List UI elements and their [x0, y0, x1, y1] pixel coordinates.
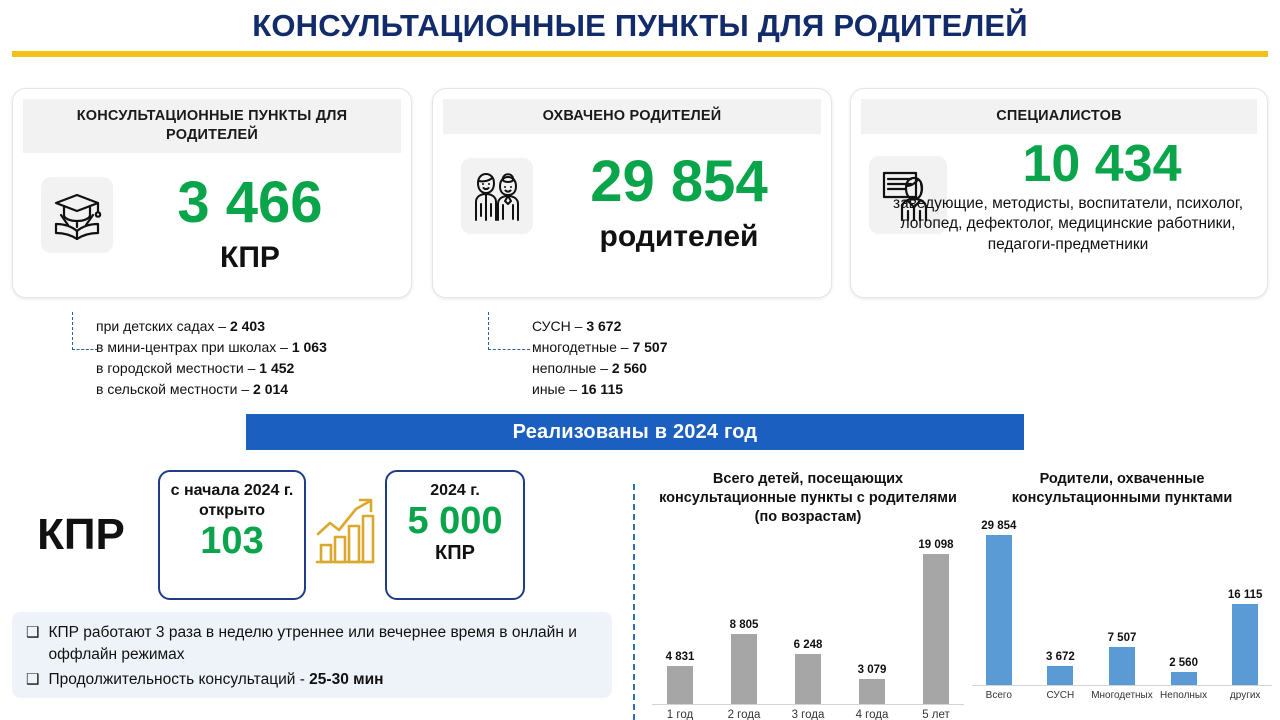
note-line: многодетные – 7 507 [532, 337, 668, 358]
chart-bar [986, 535, 1012, 685]
chart-x-label: 3 года [776, 709, 840, 720]
chart-bar-group: 4 831 [648, 533, 712, 704]
infographic-page: КОНСУЛЬТАЦИОННЫЕ ПУНКТЫ ДЛЯ РОДИТЕЛЕЙ КО… [0, 0, 1280, 720]
note-line: в сельской местности – 2 014 [96, 379, 327, 400]
kpr-box-target-2024: 2024 г. 5 000 КПР [385, 470, 525, 600]
chart-bar-value: 19 098 [918, 539, 953, 551]
card-value: 10 434 [947, 140, 1257, 189]
chart-x-label: 2 года [712, 709, 776, 720]
note-label: неполные – [532, 360, 612, 376]
card-value: 3 466 [125, 175, 375, 230]
notes-right: СУСН – 3 672многодетные – 7 507неполные … [532, 316, 668, 400]
chart-bar [731, 634, 757, 703]
chart-plot-area: 29 8543 6727 5072 56016 115 [968, 514, 1276, 686]
chart-bar [1171, 672, 1197, 685]
note-value: 1 063 [292, 339, 327, 355]
chart-bar-group: 16 115 [1214, 514, 1276, 685]
notes-left: при детских садах – 2 403в мини-центрах … [96, 316, 327, 400]
card-body: 29 854 родителей [433, 134, 831, 284]
note-value: 2 560 [612, 360, 647, 376]
chart-bar-group: 29 854 [968, 514, 1030, 685]
chart-baseline [972, 685, 1272, 686]
note-value: 3 672 [586, 318, 621, 334]
stat-card-parents-covered: ОХВАЧЕНО РОДИТЕЛЕЙ [432, 88, 832, 298]
parents-icon [461, 158, 533, 234]
note-line: в мини-центрах при школах – 1 063 [96, 337, 327, 358]
bullet-marker-icon: ❑ [26, 669, 39, 691]
chart-bar-group: 2 560 [1153, 514, 1215, 685]
chart-x-axis-labels: ВсегоСУСНМногодетныхНеполныхдругих [968, 690, 1276, 701]
bullet-item: ❑КПР работают 3 раза в неделю утреннее и… [26, 622, 598, 667]
note-line: при детских садах – 2 403 [96, 316, 327, 337]
graduation-cap-book-icon [41, 177, 113, 253]
bullet-text: Продолжительность консультаций - 25-30 м… [48, 669, 383, 691]
chart-bar-value: 16 115 [1228, 589, 1263, 601]
chart-bar [1047, 666, 1073, 684]
stat-card-specialists: СПЕЦИАЛИСТОВ 10 434 заведующие, методист… [850, 88, 1268, 298]
chart-bar-value: 6 248 [794, 639, 823, 651]
chart-plot-area: 4 8318 8056 2483 07919 098 [648, 533, 968, 705]
chart-bar-value: 4 831 [666, 651, 695, 663]
chart-bar-value: 8 805 [730, 619, 759, 631]
chart-x-label: 4 года [840, 709, 904, 720]
chart-bar-value: 3 672 [1046, 651, 1075, 663]
kpr-label: КПР [16, 510, 146, 560]
chart-bar-value: 3 079 [858, 664, 887, 676]
chart-bar-value: 29 854 [981, 520, 1016, 532]
chart-title: Всего детей, посещающих консультационные… [648, 470, 968, 527]
note-line: иные – 16 115 [532, 379, 668, 400]
note-label: многодетные – [532, 339, 632, 355]
chart-bar [1109, 647, 1135, 685]
chart-bar [795, 654, 821, 703]
chart-bar [859, 679, 885, 703]
chart-bar-value: 7 507 [1108, 632, 1137, 644]
bullets-panel: ❑КПР работают 3 раза в неделю утреннее и… [12, 612, 612, 698]
card-subtitle: родителей [545, 220, 813, 254]
chart-bar [923, 554, 949, 704]
kpr-box-value: 103 [160, 521, 304, 563]
note-label: иные – [532, 381, 581, 397]
chart-children-by-age: Всего детей, посещающих консультационные… [648, 470, 968, 720]
chart-x-label: 1 год [648, 709, 712, 720]
note-line: неполные – 2 560 [532, 358, 668, 379]
chart-title: Родители, охваченные консультационными п… [968, 470, 1276, 508]
chart-x-label: Неполных [1153, 690, 1215, 701]
vertical-dashed-divider [633, 484, 635, 720]
kpr-box-caption: с начала 2024 г. открыто [160, 472, 304, 521]
chart-bars: 4 8318 8056 2483 07919 098 [648, 533, 968, 704]
connector-line-left [72, 312, 98, 350]
note-label: в мини-центрах при школах – [96, 339, 292, 355]
chart-bar-group: 8 805 [712, 533, 776, 704]
card-body: 3 466 КПР [13, 153, 411, 298]
note-value: 16 115 [581, 381, 623, 397]
kpr-box-opened-2024: с начала 2024 г. открыто 103 [158, 470, 306, 600]
chart-bar [667, 666, 693, 704]
bullet-emphasis: 25-30 мин [309, 671, 383, 688]
kpr-box-value: 5 000 [387, 501, 523, 543]
bullet-text: КПР работают 3 раза в неделю утреннее ил… [48, 622, 598, 667]
chart-x-label: других [1214, 690, 1276, 701]
chart-bar-group: 19 098 [904, 533, 968, 704]
note-label: при детских садах – [96, 318, 230, 334]
section-banner-2024: Реализованы в 2024 год [246, 414, 1024, 450]
chart-parents-covered: Родители, охваченные консультационными п… [968, 470, 1276, 720]
card-subtitle: заведующие, методисты, воспитатели, псих… [877, 194, 1259, 256]
connector-line-right [488, 312, 530, 350]
chart-bar-group: 3 672 [1030, 514, 1092, 685]
note-label: в городской местности – [96, 360, 259, 376]
chart-x-label: 5 лет [904, 709, 968, 720]
chart-bar [1232, 604, 1258, 685]
chart-bar-group: 6 248 [776, 533, 840, 704]
note-line: СУСН – 3 672 [532, 316, 668, 337]
page-title: КОНСУЛЬТАЦИОННЫЕ ПУНКТЫ ДЛЯ РОДИТЕЛЕЙ [0, 8, 1280, 44]
chart-baseline [652, 704, 964, 705]
card-heading: ОХВАЧЕНО РОДИТЕЛЕЙ [443, 99, 821, 134]
card-value: 29 854 [545, 154, 813, 209]
kpr-box-caption: 2024 г. [387, 472, 523, 501]
note-value: 7 507 [632, 339, 667, 355]
chart-x-label: СУСН [1030, 690, 1092, 701]
chart-bars: 29 8543 6727 5072 56016 115 [968, 514, 1276, 685]
note-value: 1 452 [259, 360, 294, 376]
card-body: 10 434 заведующие, методисты, воспитател… [851, 134, 1267, 284]
title-underline-rule [12, 51, 1268, 57]
stat-card-consultation-points: КОНСУЛЬТАЦИОННЫЕ ПУНКТЫ ДЛЯ РОДИТЕЛЕЙ 3 … [12, 88, 412, 298]
growth-bar-chart-icon [310, 492, 380, 570]
kpr-box-tag: КПР [387, 543, 523, 564]
chart-x-axis-labels: 1 год2 года3 года4 года5 лет [648, 709, 968, 720]
chart-x-label: Всего [968, 690, 1030, 701]
chart-bar-group: 7 507 [1091, 514, 1153, 685]
card-heading: КОНСУЛЬТАЦИОННЫЕ ПУНКТЫ ДЛЯ РОДИТЕЛЕЙ [23, 99, 401, 153]
chart-x-label: Многодетных [1091, 690, 1153, 701]
chart-bar-value: 2 560 [1169, 657, 1198, 669]
bullet-item: ❑Продолжительность консультаций - 25-30 … [26, 669, 598, 691]
card-subtitle: КПР [125, 241, 375, 275]
note-label: в сельской местности – [96, 381, 253, 397]
note-label: СУСН – [532, 318, 586, 334]
note-value: 2 014 [253, 381, 288, 397]
note-value: 2 403 [230, 318, 265, 334]
chart-bar-group: 3 079 [840, 533, 904, 704]
bullet-marker-icon: ❑ [26, 622, 39, 644]
card-heading: СПЕЦИАЛИСТОВ [861, 99, 1257, 134]
note-line: в городской местности – 1 452 [96, 358, 327, 379]
